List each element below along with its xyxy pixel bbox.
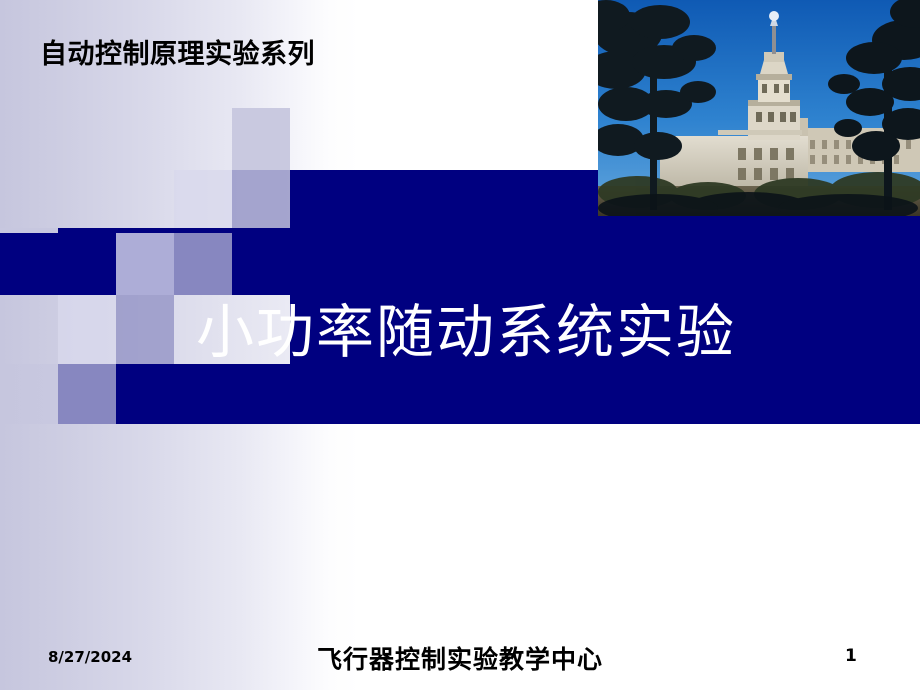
decor-square-mid-light xyxy=(116,233,174,295)
header-title: 自动控制原理实验系列 xyxy=(40,38,315,72)
decor-square-upper-light xyxy=(174,170,232,228)
campus-building-photo xyxy=(598,0,920,216)
decor-square-lower-light xyxy=(58,295,116,364)
decor-square-upper-mid xyxy=(232,170,290,228)
slide-canvas: 自动控制原理实验系列 xyxy=(0,0,920,690)
band-left-notch-4 xyxy=(0,364,58,424)
decor-square-top-light xyxy=(232,108,290,170)
decor-square-bottom-mid xyxy=(58,364,116,424)
decor-square-mid-mid xyxy=(174,233,232,295)
decor-square-left-navy xyxy=(0,233,59,295)
footer-page-number: 1 xyxy=(845,646,857,666)
page-title: 小功率随动系统实验 xyxy=(196,298,896,366)
footer-organization: 飞行器控制实验教学中心 xyxy=(0,640,920,676)
photo-artwork xyxy=(598,0,920,216)
decor-square-lower-mid xyxy=(116,295,174,364)
